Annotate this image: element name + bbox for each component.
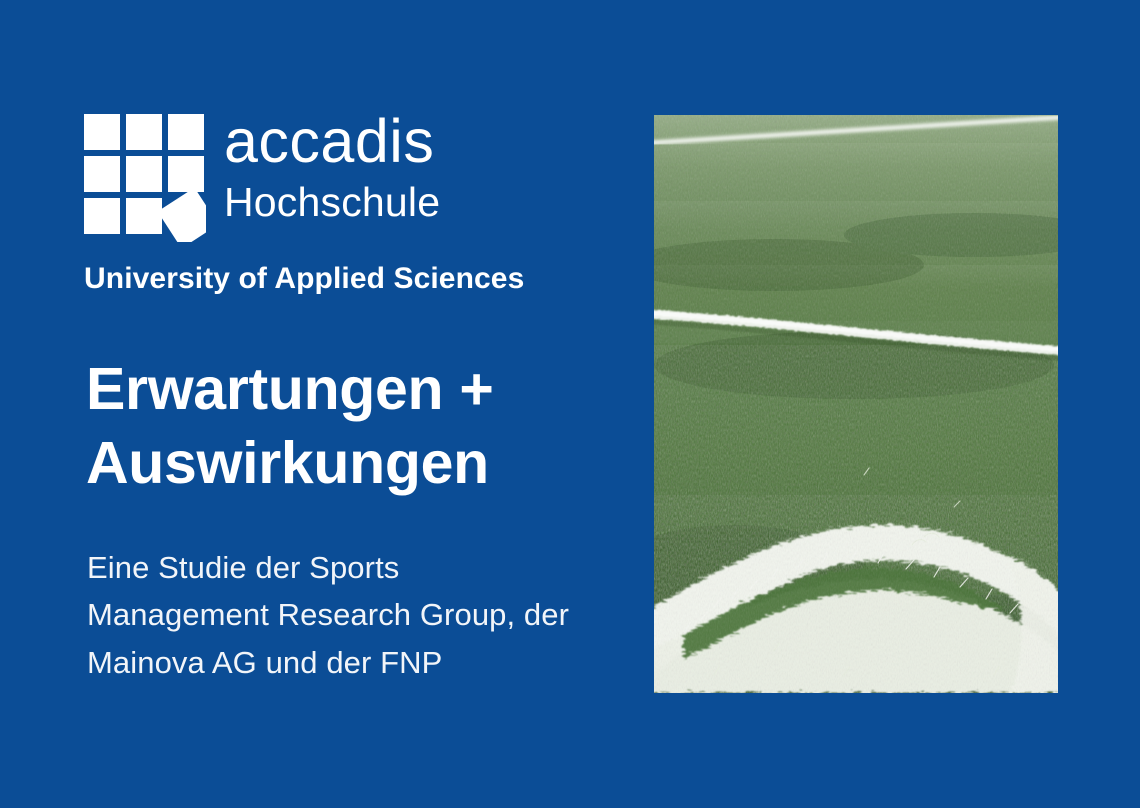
slide-title-line-2: Auswirkungen <box>86 426 626 500</box>
slide-subtitle: Eine Studie der Sports Management Resear… <box>87 544 632 686</box>
accadis-logo: accadis Hochschule University of Applied… <box>84 114 554 246</box>
logo-wordmark-hochschule: Hochschule <box>224 180 554 225</box>
slide-subtitle-line-1: Eine Studie der Sports <box>87 544 632 591</box>
slide-subtitle-line-2: Management Research Group, der <box>87 591 632 638</box>
logo-wordmark-accadis: accadis <box>224 110 554 172</box>
accadis-grid-mark-icon <box>84 114 206 242</box>
logo-wordmarks: accadis Hochschule <box>224 110 554 225</box>
logo-row: accadis Hochschule <box>84 114 554 246</box>
logo-tagline: University of Applied Sciences <box>84 262 524 296</box>
slide-title-line-1: Erwartungen + <box>86 352 626 426</box>
presentation-slide: accadis Hochschule University of Applied… <box>0 0 1140 808</box>
slide-subtitle-line-3: Mainova AG und der FNP <box>87 639 632 686</box>
slide-title: Erwartungen + Auswirkungen <box>86 352 626 501</box>
soccer-pitch-photo <box>654 115 1058 693</box>
left-content-column: accadis Hochschule University of Applied… <box>0 0 640 808</box>
